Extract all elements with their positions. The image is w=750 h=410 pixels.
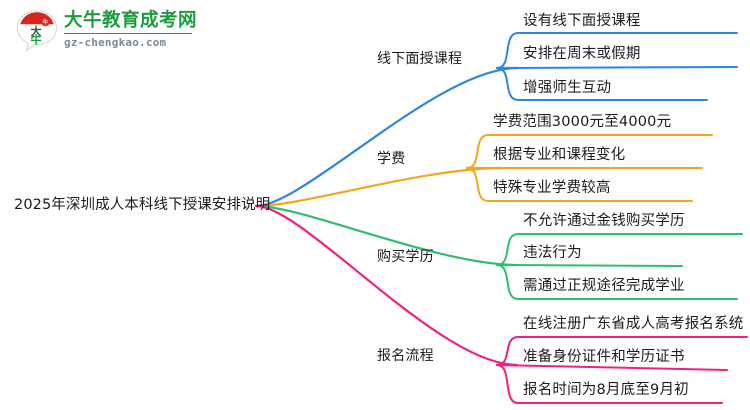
logo-brand-name: 大牛教育成考网 xyxy=(64,10,194,31)
logo-domain: gz-chengkao.com xyxy=(64,36,194,49)
logo-divider xyxy=(64,33,192,34)
leaf-label-1-2[interactable]: 特殊专业学费较高 xyxy=(493,181,611,196)
connector-path xyxy=(497,365,727,370)
connector-path xyxy=(497,67,737,68)
leaf-label-0-2[interactable]: 增强师生互动 xyxy=(523,81,611,96)
connector-path xyxy=(256,168,503,206)
leaf-label-2-1[interactable]: 违法行为 xyxy=(523,246,582,261)
logo-mark-icon: 牛 大 牛 xyxy=(14,8,60,54)
logo-text: 大牛教育成考网 gz-chengkao.com xyxy=(64,10,194,49)
svg-text:牛: 牛 xyxy=(43,18,49,26)
leaf-label-2-2[interactable]: 需通过正规途径完成学业 xyxy=(523,279,685,294)
connector-path xyxy=(256,206,518,365)
branch-label-3[interactable]: 报名流程 xyxy=(377,349,434,363)
leaf-label-1-1[interactable]: 根据专业和课程变化 xyxy=(493,148,625,163)
connector-path xyxy=(497,265,682,266)
leaf-label-0-0[interactable]: 设有线下面授课程 xyxy=(523,14,641,29)
branch-label-2[interactable]: 购买学历 xyxy=(377,250,434,264)
leaf-label-3-1[interactable]: 准备身份证件和学历证书 xyxy=(523,350,685,365)
connector-path xyxy=(256,68,518,206)
leaf-label-2-0[interactable]: 不允许通过金钱购买学历 xyxy=(523,214,685,229)
root-node-label[interactable]: 2025年深圳成人本科线下授课安排说明 xyxy=(14,198,270,213)
leaf-label-3-0[interactable]: 在线注册广东省成人高考报名系统 xyxy=(523,317,744,332)
leaf-label-0-1[interactable]: 安排在周末或假期 xyxy=(523,47,641,62)
mindmap-canvas: 牛 大 牛 大牛教育成考网 gz-chengkao.com 2025年深圳成人本… xyxy=(0,0,750,410)
branch-label-0[interactable]: 线下面授课程 xyxy=(377,52,462,66)
svg-text:牛: 牛 xyxy=(31,33,42,47)
site-logo[interactable]: 牛 大 牛 大牛教育成考网 gz-chengkao.com xyxy=(14,6,194,58)
leaf-label-1-0[interactable]: 学费范围3000元至4000元 xyxy=(493,115,671,130)
leaf-label-3-2[interactable]: 报名时间为8月底至9月初 xyxy=(523,383,689,398)
branch-label-1[interactable]: 学费 xyxy=(377,152,405,166)
